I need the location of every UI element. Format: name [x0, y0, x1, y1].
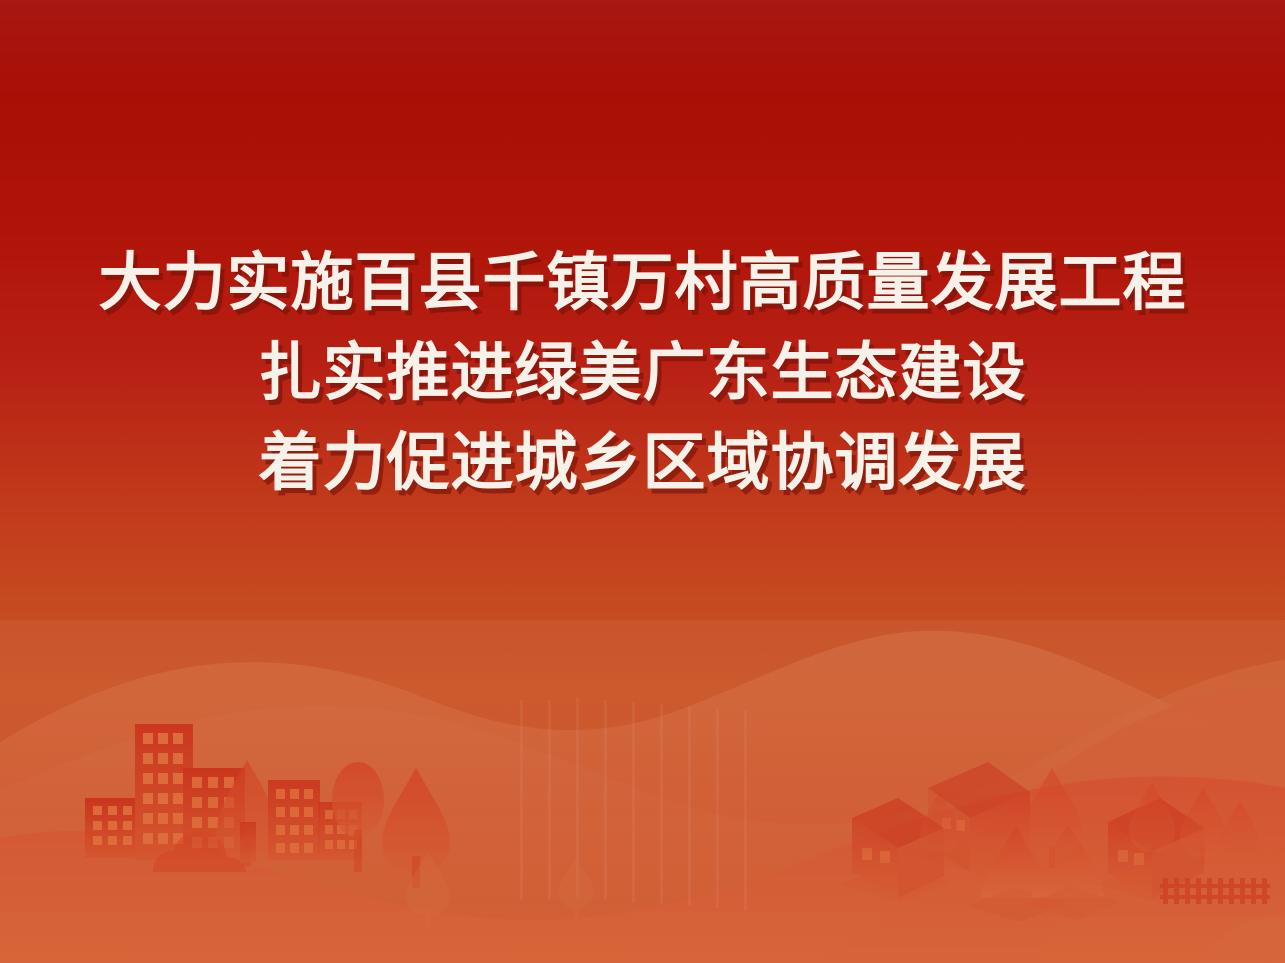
slide-canvas: 大力实施百县千镇万村高质量发展工程 扎实推进绿美广东生态建设 着力促进城乡区域协… — [0, 0, 1285, 963]
landscape-illustration — [0, 0, 1285, 963]
light-sweep — [0, 620, 1285, 963]
